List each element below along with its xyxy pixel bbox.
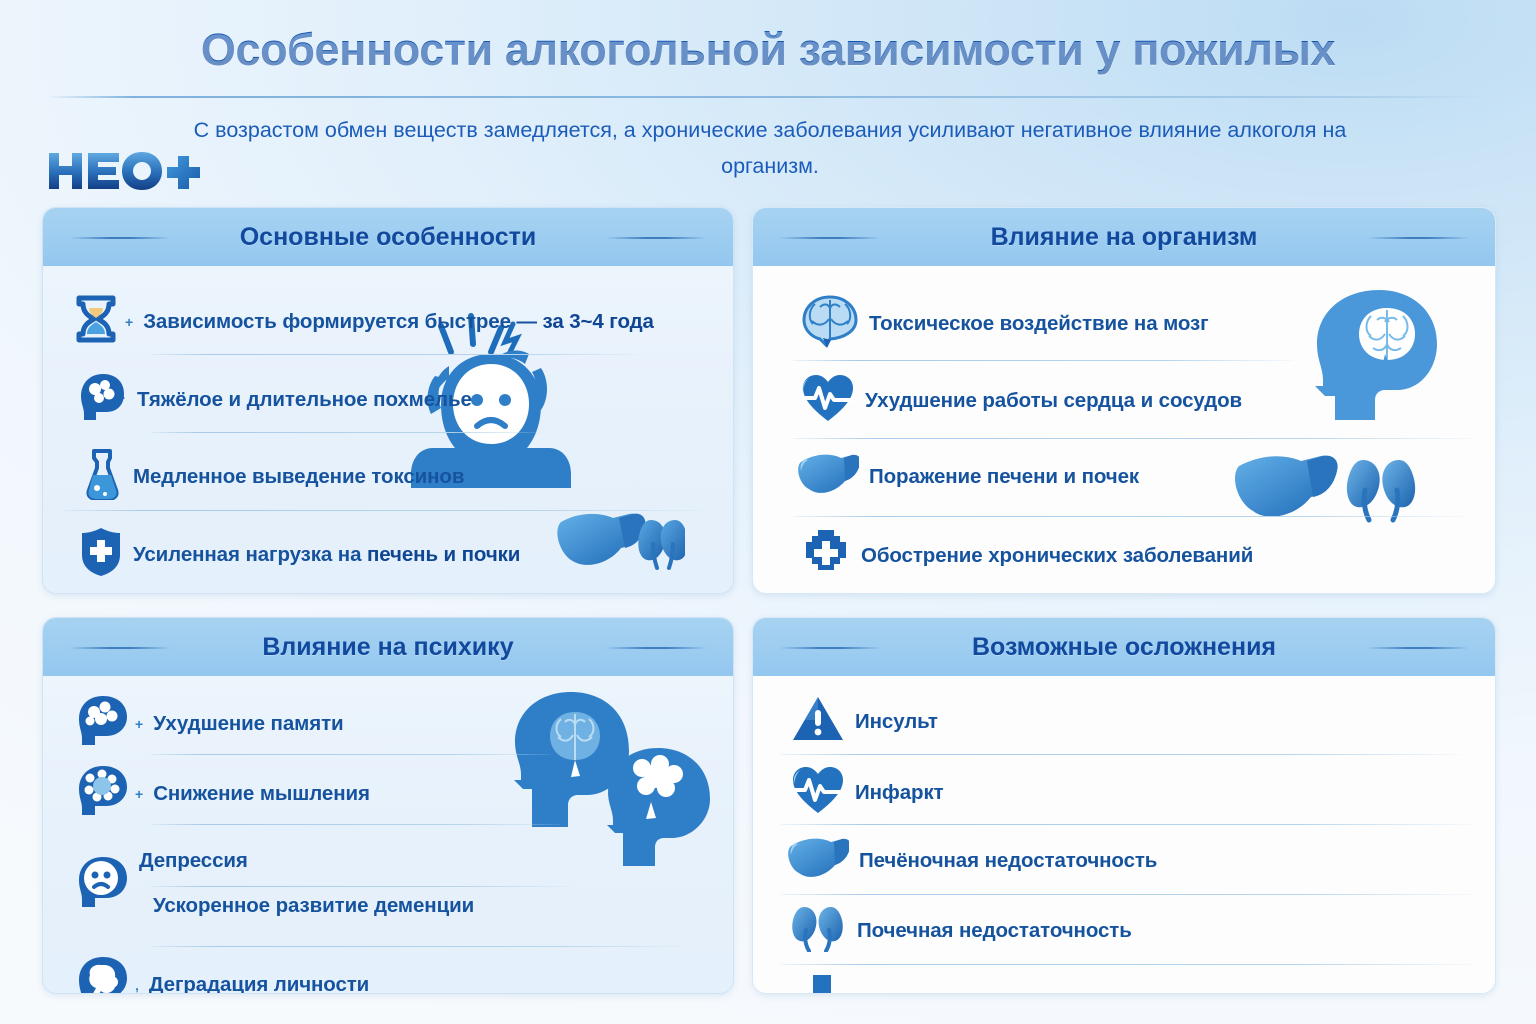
card-complications: Возможные осложнения Инсульт xyxy=(752,617,1496,994)
list-item-label: Медленное выведение токсинов xyxy=(133,465,464,489)
plus-accent-icon: + xyxy=(125,314,133,330)
row-separator xyxy=(65,510,705,511)
list-item[interactable]: + Снижение мышления xyxy=(77,764,370,823)
list-item-label: Снижение мышления xyxy=(153,782,370,806)
liver-kidney-art xyxy=(1233,448,1433,533)
list-item-label: Ускоренное развитие деменции xyxy=(153,894,474,918)
card-header: Основные особенности xyxy=(43,208,733,266)
list-item-label: Ухудшение работы сердца и сосудов xyxy=(865,389,1242,413)
list-item[interactable]: Депрессия xyxy=(77,834,248,888)
card-main-features: Основные особенности xyxy=(42,207,734,594)
row-separator xyxy=(151,354,641,355)
title-divider xyxy=(47,96,1489,98)
list-item-label: Тяжёлое и длительное похмелье xyxy=(137,388,472,412)
list-item[interactable]: Тяжёлое и длительное похмелье xyxy=(79,372,472,427)
head-hangover-icon xyxy=(79,372,127,427)
header-deco-left xyxy=(779,647,881,649)
liver-icon xyxy=(787,834,849,887)
row-separator xyxy=(781,964,1471,965)
list-item[interactable]: Ухудшение работы сердца и сосудов xyxy=(801,372,1242,429)
list-item-label: Депрессия xyxy=(139,849,248,873)
list-item-label: Инфаркт xyxy=(855,781,944,805)
list-item-label: Ухудшение качества жизни xyxy=(857,989,1130,995)
card-title: Возможные осложнения xyxy=(952,633,1296,662)
list-item-label: Почечная недостаточность xyxy=(857,919,1132,943)
head-memory-icon xyxy=(77,694,129,753)
head-brain-art xyxy=(1301,284,1451,439)
card-body: + Зависимость формируется быстрее — за 3… xyxy=(43,266,733,593)
header-deco-right xyxy=(1367,647,1469,649)
plus-accent-icon: ‚ xyxy=(135,977,139,993)
row-separator xyxy=(793,438,1473,439)
hourglass-icon xyxy=(73,294,119,349)
list-item[interactable]: Инфаркт xyxy=(791,764,944,821)
head-brain-art xyxy=(503,688,633,843)
brain-icon xyxy=(801,294,859,353)
row-separator xyxy=(793,360,1293,361)
warning-triangle-icon xyxy=(791,694,845,749)
list-item[interactable]: Поражение печени и почек xyxy=(797,450,1139,503)
head-thinking-icon xyxy=(77,764,129,823)
list-item-label: Печёночная недостаточность xyxy=(859,849,1157,873)
plus-accent-icon: + xyxy=(135,786,143,802)
head-degradation-icon xyxy=(77,954,129,994)
header-deco-left xyxy=(779,237,881,239)
card-body-impact: Влияние на организм xyxy=(752,207,1496,594)
row-separator xyxy=(781,824,1471,825)
list-item-label: Зависимость формируется быстрее — за 3~4… xyxy=(143,310,654,334)
list-item[interactable]: Ухудшение качества жизни xyxy=(797,972,1130,994)
heart-pulse-icon xyxy=(801,372,855,429)
row-separator xyxy=(781,894,1471,895)
list-item[interactable]: Ускоренное развитие деменции xyxy=(153,894,474,918)
card-header: Влияние на организм xyxy=(753,208,1495,266)
list-item[interactable]: ‚ Деградация личности xyxy=(77,954,369,994)
header-deco-right xyxy=(1367,237,1469,239)
neo-plus-logo xyxy=(47,147,207,195)
card-title: Влияние на организм xyxy=(971,223,1278,252)
page-title: Особенности алкогольной зависимости у по… xyxy=(0,0,1536,76)
list-item[interactable]: + Ухудшение памяти xyxy=(77,694,344,753)
heart-pulse-icon xyxy=(791,764,845,821)
card-psyche-impact: Влияние на психику xyxy=(42,617,734,994)
list-item[interactable]: Инсульт xyxy=(791,694,938,749)
page-header: Особенности алкогольной зависимости у по… xyxy=(0,0,1536,76)
header-deco-left xyxy=(69,647,171,649)
cross-icon xyxy=(801,528,851,583)
head-dementia-art xyxy=(598,744,713,879)
page-subtitle: С возрастом обмен веществ замедляется, а… xyxy=(155,112,1385,184)
card-title: Основные особенности xyxy=(220,223,557,252)
list-item[interactable]: Обострение хронических заболеваний xyxy=(801,528,1253,583)
header-deco-left xyxy=(69,237,171,239)
flask-icon xyxy=(81,448,123,505)
card-body: + Ухудшение памяти + Снижение мыш xyxy=(43,676,733,993)
header-deco-right xyxy=(605,237,707,239)
list-item[interactable]: Печёночная недостаточность xyxy=(787,834,1157,887)
liver-icon xyxy=(797,450,859,503)
card-header: Возможные осложнения xyxy=(753,618,1495,676)
row-separator xyxy=(151,754,551,755)
list-item-label: Ухудшение памяти xyxy=(153,712,343,736)
kidney-icon xyxy=(789,904,847,957)
card-title: Влияние на психику xyxy=(242,633,533,662)
list-item-label: Деградация личности xyxy=(149,973,369,995)
list-item[interactable]: Медленное выведение токсинов xyxy=(81,448,464,505)
plus-accent-icon: + xyxy=(135,716,143,732)
list-item-label: Токсическое воздействие на мозг xyxy=(869,312,1209,336)
row-separator xyxy=(151,432,541,433)
list-item[interactable]: + Зависимость формируется быстрее — за 3… xyxy=(73,294,654,349)
list-item[interactable]: Токсическое воздействие на мозг xyxy=(801,294,1209,353)
list-item-label: Поражение печени и почек xyxy=(869,465,1139,489)
list-item[interactable]: Почечная недостаточность xyxy=(789,904,1132,957)
row-separator xyxy=(781,754,1461,755)
list-item-label: Обострение хронических заболеваний xyxy=(861,544,1253,568)
list-item-label: Усиленная нагрузка на печень и почки xyxy=(133,543,520,567)
list-item-label: Инсульт xyxy=(855,710,938,734)
card-body: Токсическое воздействие на мозг Ухудшени… xyxy=(753,266,1495,593)
row-separator xyxy=(151,946,681,947)
row-separator xyxy=(793,516,1463,517)
liver-kidney-art xyxy=(555,506,685,583)
row-separator xyxy=(151,824,561,825)
shield-cross-icon xyxy=(79,526,123,583)
card-header: Влияние на психику xyxy=(43,618,733,676)
list-item[interactable]: Усиленная нагрузка на печень и почки xyxy=(79,526,520,583)
header-deco-right xyxy=(605,647,707,649)
row-separator xyxy=(151,886,571,887)
arrow-down-icon xyxy=(797,972,847,994)
card-body: Инсульт Инфаркт xyxy=(753,676,1495,993)
